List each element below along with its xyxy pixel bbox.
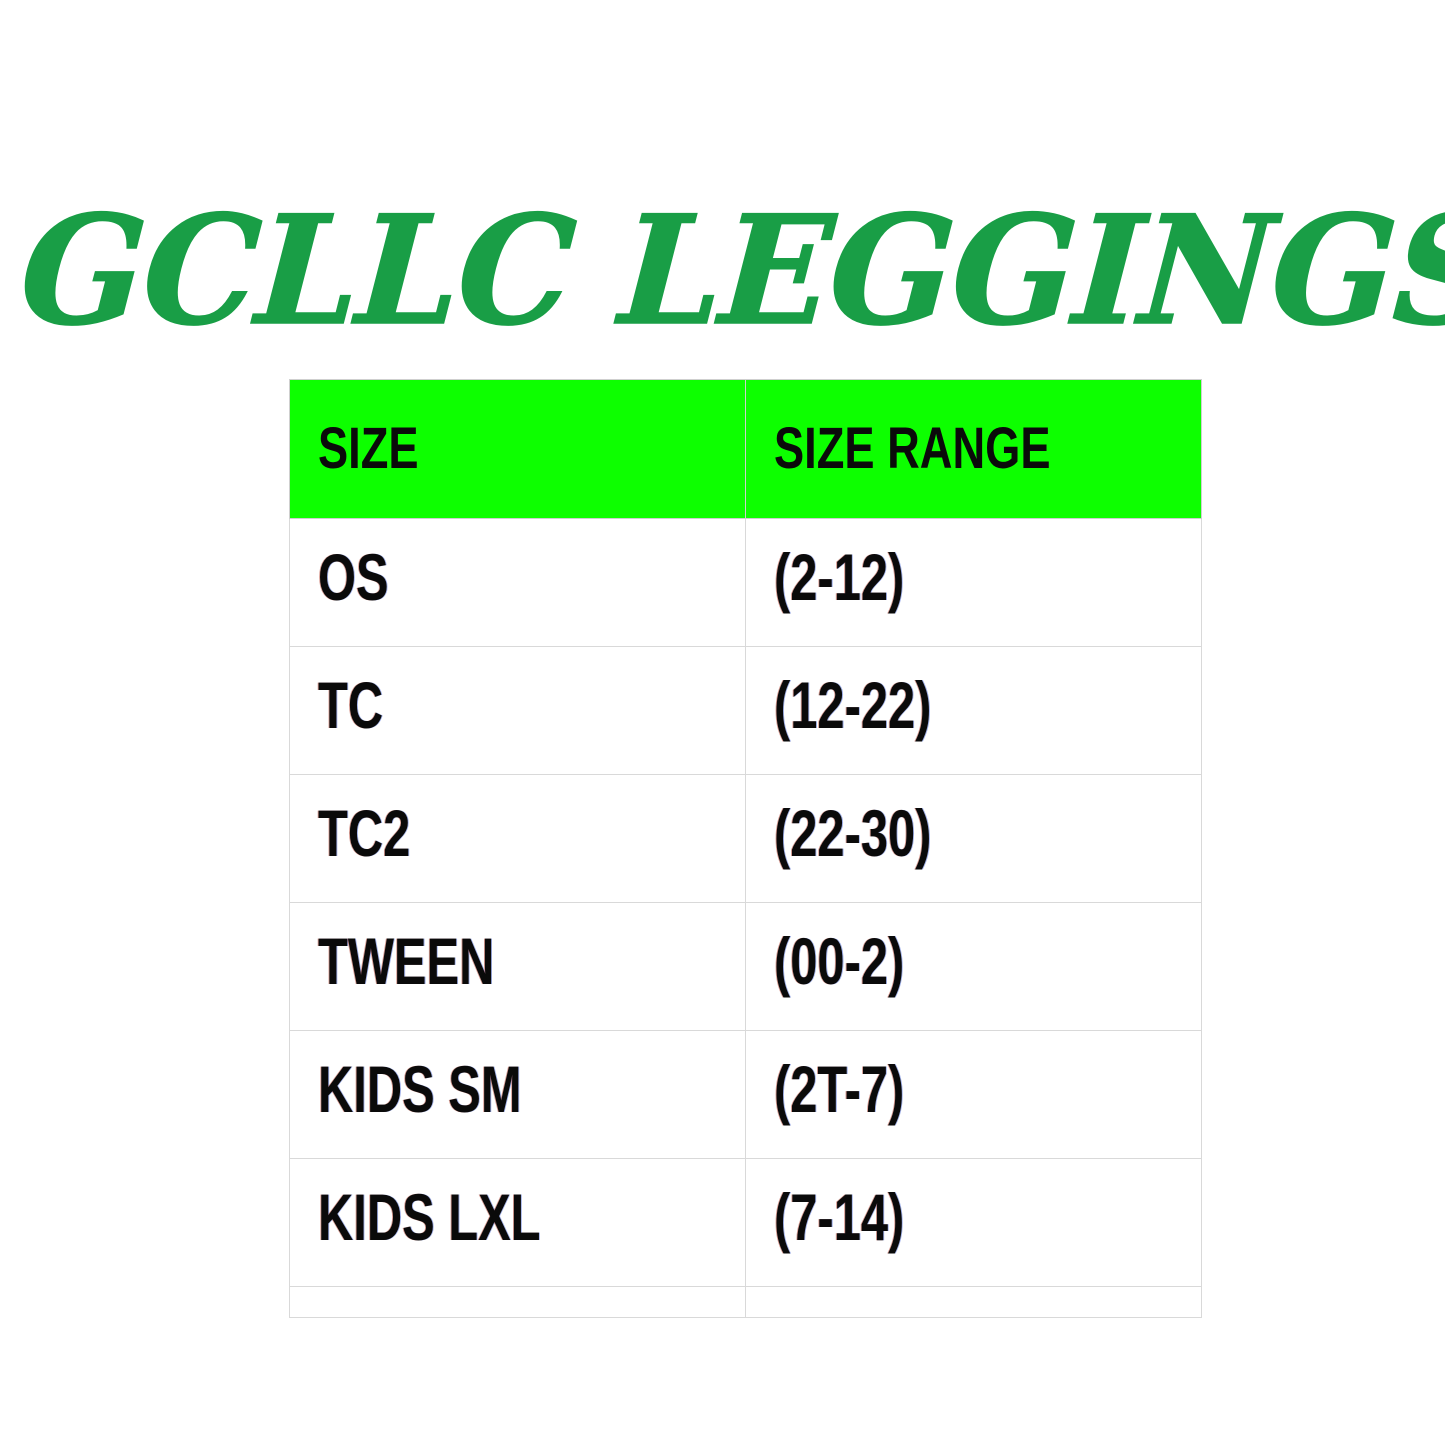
cell-size-range: (7-14) [746,1159,1202,1287]
cell-size: OS [290,519,746,647]
table-header: SIZE SIZE RANGE [290,380,1202,519]
table-header-row: SIZE SIZE RANGE [290,380,1202,519]
cell-size-range: (12-22) [746,647,1202,775]
cell-size-value: KIDS SM [318,1056,522,1122]
cell-size-range [746,1287,1202,1318]
cell-size-range-value: (7-14) [774,1184,904,1250]
table-row: KIDS LXL (7-14) [290,1159,1202,1287]
cell-size-value: TC [318,672,383,738]
table-row: TC2 (22-30) [290,775,1202,903]
cell-size-range: (2T-7) [746,1031,1202,1159]
cell-size-range-value: (2-12) [774,544,904,610]
cell-size-range-value: (00-2) [774,928,904,994]
column-header-size-range-label: SIZE RANGE [774,416,1051,482]
cell-size: KIDS LXL [290,1159,746,1287]
column-header-size: SIZE [290,380,746,519]
cell-size [290,1287,746,1318]
cell-size-value: KIDS LXL [318,1184,541,1250]
cell-size-range-value: (22-30) [774,800,931,866]
size-chart-table: SIZE SIZE RANGE OS (2-12) TC [289,379,1202,1318]
cell-size: TC2 [290,775,746,903]
cell-size-value: OS [318,544,389,610]
cell-size-range-value: (2T-7) [774,1056,904,1122]
cell-size-value: TC2 [318,800,410,866]
cell-size: TWEEN [290,903,746,1031]
column-header-size-label: SIZE [318,416,419,482]
cell-size: KIDS SM [290,1031,746,1159]
table-row: OS (2-12) [290,519,1202,647]
cell-size-range: (00-2) [746,903,1202,1031]
table-row-empty [290,1287,1202,1318]
column-header-size-range: SIZE RANGE [746,380,1202,519]
table-body: OS (2-12) TC (12-22) TC2 (22-30) [290,519,1202,1318]
cell-size-range: (22-30) [746,775,1202,903]
cell-size: TC [290,647,746,775]
cell-size-range: (2-12) [746,519,1202,647]
table-row: KIDS SM (2T-7) [290,1031,1202,1159]
size-chart-graphic: GCLLC LEGGINGS SIZE CHART SIZE SIZE RANG… [0,0,1445,1445]
table-row: TWEEN (00-2) [290,903,1202,1031]
cell-size-range-value: (12-22) [774,672,931,738]
table-row: TC (12-22) [290,647,1202,775]
cell-size-value: TWEEN [318,928,494,994]
page-title: GCLLC LEGGINGS SIZE CHART [17,196,1429,346]
